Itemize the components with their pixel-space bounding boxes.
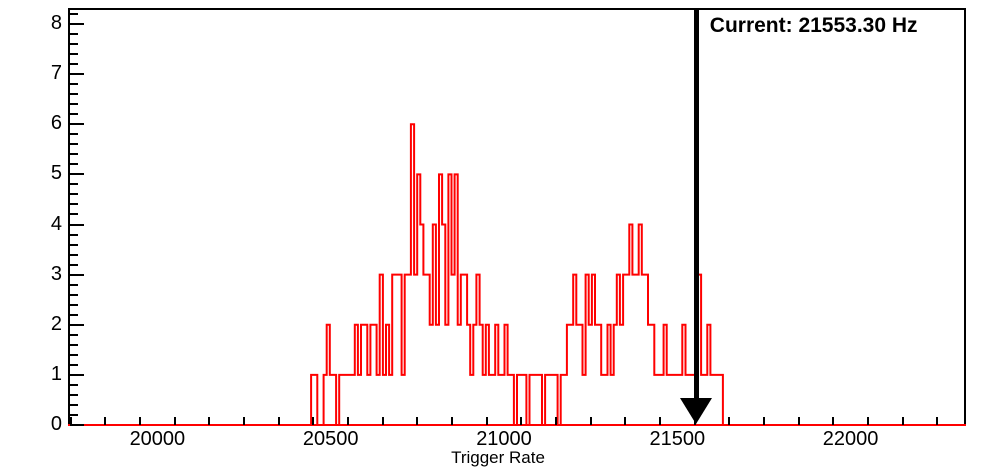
y-tick-label: 2	[18, 314, 62, 334]
x-tick-minor	[902, 417, 904, 425]
y-tick-minor	[70, 394, 78, 396]
current-value-label: Current: 21553.30 Hz	[710, 14, 918, 38]
y-tick-minor	[70, 284, 78, 286]
x-tick-minor	[798, 417, 800, 425]
x-tick-minor	[347, 417, 349, 425]
y-tick-minor	[70, 414, 78, 416]
y-tick-major	[70, 123, 84, 125]
y-tick-minor	[70, 33, 78, 35]
y-tick-minor	[70, 294, 78, 296]
x-tick-minor	[416, 417, 418, 425]
y-tick-minor	[70, 364, 78, 366]
y-tick-minor	[70, 254, 78, 256]
y-tick-label: 3	[18, 264, 62, 284]
x-tick-label: 21000	[444, 428, 564, 450]
y-tick-minor	[70, 143, 78, 145]
y-tick-minor	[70, 213, 78, 215]
y-tick-minor	[70, 43, 78, 45]
x-tick-minor	[936, 417, 938, 425]
x-tick-minor	[832, 417, 834, 425]
x-tick-label: 20000	[97, 428, 217, 450]
histogram-outline	[69, 124, 965, 425]
x-tick-minor	[278, 417, 280, 425]
x-tick-minor	[520, 417, 522, 425]
y-tick-minor	[70, 344, 78, 346]
x-tick-minor	[728, 417, 730, 425]
x-tick-minor	[624, 417, 626, 425]
y-tick-minor	[70, 304, 78, 306]
x-tick-minor	[486, 417, 488, 425]
current-marker-arrow-icon	[680, 398, 712, 424]
y-tick-minor	[70, 193, 78, 195]
x-tick-minor	[555, 417, 557, 425]
y-tick-minor	[70, 13, 78, 15]
current-marker-line	[694, 9, 699, 403]
y-tick-minor	[70, 354, 78, 356]
histogram-plot: 012345678 2000020500210002150022000 Curr…	[0, 0, 996, 472]
y-tick-minor	[70, 83, 78, 85]
x-tick-minor	[867, 417, 869, 425]
x-tick-minor	[174, 417, 176, 425]
y-tick-major	[70, 274, 84, 276]
x-tick-minor	[382, 417, 384, 425]
x-tick-minor	[312, 417, 314, 425]
y-tick-minor	[70, 234, 78, 236]
x-axis-title: Trigger Rate	[0, 448, 996, 468]
x-tick-label: 22000	[791, 428, 911, 450]
y-tick-minor	[70, 93, 78, 95]
x-tick-minor	[139, 417, 141, 425]
y-tick-label: 1	[18, 364, 62, 384]
y-tick-minor	[70, 384, 78, 386]
y-tick-label: 0	[18, 414, 62, 434]
x-tick-minor	[451, 417, 453, 425]
x-tick-minor	[104, 417, 106, 425]
y-tick-major	[70, 73, 84, 75]
x-tick-minor	[70, 417, 72, 425]
y-tick-major	[70, 324, 84, 326]
y-tick-label: 8	[18, 13, 62, 33]
y-tick-major	[70, 424, 84, 426]
x-tick-minor	[590, 417, 592, 425]
x-tick-label: 20500	[271, 428, 391, 450]
histogram-series	[0, 0, 996, 472]
y-tick-minor	[70, 133, 78, 135]
x-tick-label: 21500	[617, 428, 737, 450]
y-tick-minor	[70, 103, 78, 105]
y-tick-minor	[70, 53, 78, 55]
y-tick-label: 7	[18, 63, 62, 83]
y-tick-minor	[70, 264, 78, 266]
y-tick-minor	[70, 163, 78, 165]
y-tick-major	[70, 374, 84, 376]
y-tick-minor	[70, 203, 78, 205]
y-tick-minor	[70, 334, 78, 336]
y-tick-major	[70, 23, 84, 25]
y-tick-major	[70, 173, 84, 175]
y-tick-minor	[70, 153, 78, 155]
y-tick-minor	[70, 63, 78, 65]
y-tick-label: 4	[18, 214, 62, 234]
y-tick-minor	[70, 244, 78, 246]
y-tick-minor	[70, 404, 78, 406]
y-tick-major	[70, 224, 84, 226]
x-tick-minor	[763, 417, 765, 425]
y-tick-minor	[70, 113, 78, 115]
y-tick-label: 5	[18, 163, 62, 183]
y-tick-label: 6	[18, 113, 62, 133]
x-tick-minor	[243, 417, 245, 425]
y-tick-minor	[70, 314, 78, 316]
x-tick-minor	[659, 417, 661, 425]
x-tick-minor	[208, 417, 210, 425]
y-tick-minor	[70, 183, 78, 185]
